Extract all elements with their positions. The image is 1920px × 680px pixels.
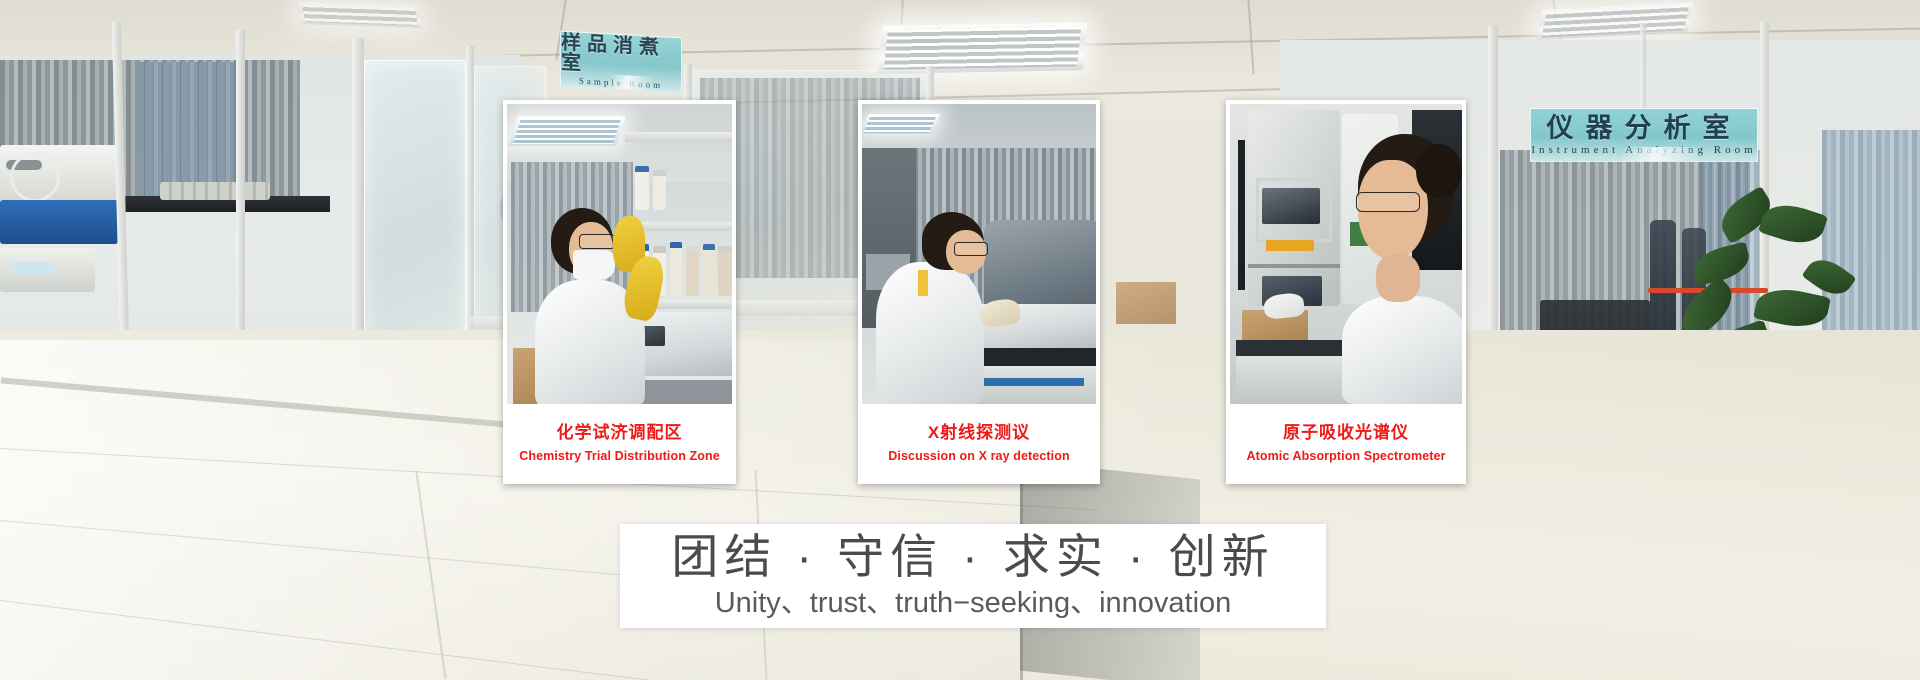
- lab-equipment-handle: [10, 152, 60, 202]
- ceiling-light-fixture: [298, 2, 423, 28]
- photo-reagent-bottle: [653, 170, 666, 210]
- photo-person-neck: [1376, 254, 1420, 302]
- ceiling-light-fixture: [877, 22, 1087, 74]
- sign-sample-digestion-room: 样品消煮室 Sample Room: [560, 31, 682, 94]
- photo-shelf: [625, 132, 732, 142]
- sign-instrument-analyzing-room: 仪器分析室 Instrument Analyzing Room: [1530, 108, 1758, 162]
- card-caption-cn: X射线探测议: [928, 424, 1030, 443]
- card-caption: X射线探测议 Discussion on X ray detection: [858, 404, 1100, 484]
- photo-person-glasses: [954, 242, 988, 256]
- photo-card-x-ray-detection[interactable]: X射线探测议 Discussion on X ray detection: [858, 100, 1100, 484]
- photo-instrument-door: [1256, 178, 1332, 242]
- photo-person-glasses: [1356, 192, 1420, 212]
- equipment-label: [12, 262, 54, 276]
- card-photo: [862, 104, 1096, 404]
- card-caption-cn: 化学试济调配区: [557, 424, 683, 443]
- photo-ceiling-light: [508, 116, 626, 146]
- photo-reagent-bottle: [635, 166, 649, 210]
- photo-reagent-bottle: [703, 244, 715, 296]
- photo-person-labcoat: [876, 262, 984, 404]
- slogan-en: Unity、trust、truth−seeking、innovation: [715, 588, 1232, 620]
- card-caption: 原子吸收光谱仪 Atomic Absorption Spectrometer: [1226, 404, 1466, 484]
- card-photo: [507, 104, 732, 404]
- photo-person-labcoat: [1342, 296, 1462, 404]
- blue-container: [0, 200, 118, 244]
- photo-warning-label: [1266, 240, 1314, 251]
- window-curtain: [140, 62, 235, 202]
- card-photo: [1230, 104, 1462, 404]
- cardboard-box: [1116, 282, 1176, 324]
- photo-person-glasses: [579, 234, 615, 249]
- gas-cylinder: [1650, 220, 1676, 340]
- slogan-banner: 团结 · 守信 · 求实 · 创新 Unity、trust、truth−seek…: [620, 524, 1326, 628]
- photo-card-chemistry-trial-distribution-zone[interactable]: 化学试济调配区 Chemistry Trial Distribution Zon…: [503, 100, 736, 484]
- photo-lanyard: [918, 270, 928, 296]
- slogan-cn: 团结 · 守信 · 求实 · 创新: [671, 532, 1274, 581]
- card-caption-en: Chemistry Trial Distribution Zone: [519, 450, 720, 464]
- card-caption: 化学试济调配区 Chemistry Trial Distribution Zon…: [503, 404, 736, 484]
- sign-stripe: [1531, 147, 1757, 161]
- photo-reagent-bottle: [718, 246, 732, 296]
- photo-person-hair-bun: [1416, 144, 1462, 198]
- photo-reagent-bottle: [686, 246, 699, 296]
- photo-card-atomic-absorption-spectrometer[interactable]: 原子吸收光谱仪 Atomic Absorption Spectrometer: [1226, 100, 1466, 484]
- card-caption-cn: 原子吸收光谱仪: [1283, 424, 1409, 443]
- photo-instrument-rail: [1238, 140, 1245, 290]
- photo-bench-stripe: [974, 378, 1084, 386]
- sign-cn-text: 仪器分析室: [1547, 115, 1742, 142]
- photo-ceiling-light: [862, 114, 940, 134]
- photo-instrument-seam: [1248, 264, 1340, 268]
- card-caption-en: Atomic Absorption Spectrometer: [1246, 450, 1445, 464]
- stacked-jars: [160, 182, 270, 200]
- photo-reagent-bottle: [670, 242, 682, 296]
- banner-stage: 样品消煮室 Sample Room 仪器分析室 Instrument Analy…: [0, 0, 1920, 680]
- photo-person-facemask: [573, 250, 615, 280]
- card-caption-en: Discussion on X ray detection: [888, 450, 1069, 464]
